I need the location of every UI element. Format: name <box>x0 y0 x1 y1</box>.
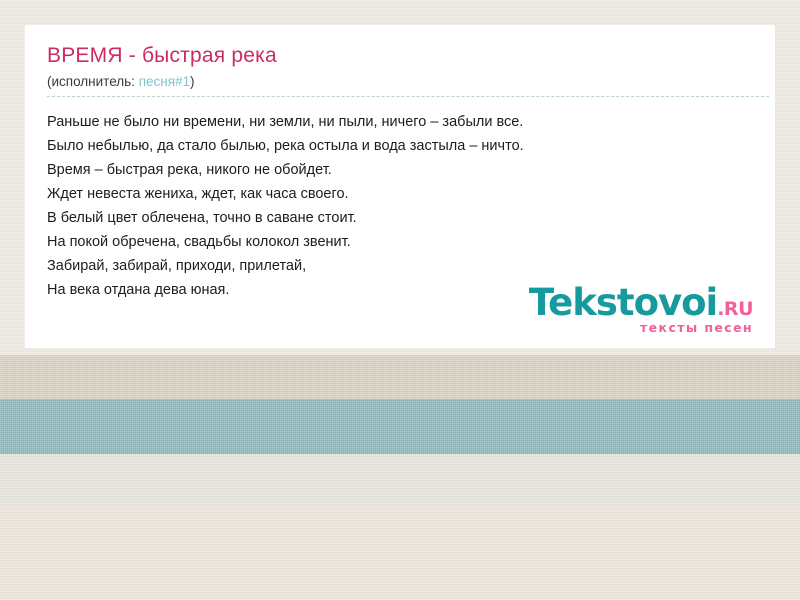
lyric-line: Ждет невеста жениха, ждет, как часа свое… <box>47 182 753 206</box>
divider <box>47 96 769 97</box>
page-title: ВРЕМЯ - быстрая река <box>47 43 753 69</box>
logo-wordmark: Tekstovoi <box>529 281 717 324</box>
artist-link[interactable]: песня#1 <box>139 74 190 89</box>
lyric-line: Было небылью, да стало былью, река остыл… <box>47 134 753 158</box>
lyrics-body: Раньше не было ни времени, ни земли, ни … <box>47 110 753 302</box>
lyric-line: Время – быстрая река, никого не обойдет. <box>47 158 753 182</box>
lyric-line: Забирай, забирай, приходи, прилетай, <box>47 254 753 278</box>
artist-label-open: (исполнитель: <box>47 74 139 89</box>
site-logo[interactable]: Tekstovoi.RU тексты песен <box>529 284 753 335</box>
lyric-line: На покой обречена, свадьбы колокол звени… <box>47 230 753 254</box>
lyric-line: Раньше не было ни времени, ни земли, ни … <box>47 110 753 134</box>
background-band-tan <box>0 355 800 399</box>
artist-line: (исполнитель: песня#1) <box>47 72 753 92</box>
logo-row: Tekstovoi.RU <box>529 284 753 321</box>
lyric-line: В белый цвет облечена, точно в саване ст… <box>47 206 753 230</box>
background-band-cream <box>0 506 800 600</box>
artist-label-close: ) <box>190 74 195 89</box>
logo-tld: .RU <box>717 298 753 320</box>
background-band-teal <box>0 399 800 454</box>
lyric-card: ВРЕМЯ - быстрая река (исполнитель: песня… <box>25 25 775 348</box>
background-band-pale <box>0 454 800 506</box>
